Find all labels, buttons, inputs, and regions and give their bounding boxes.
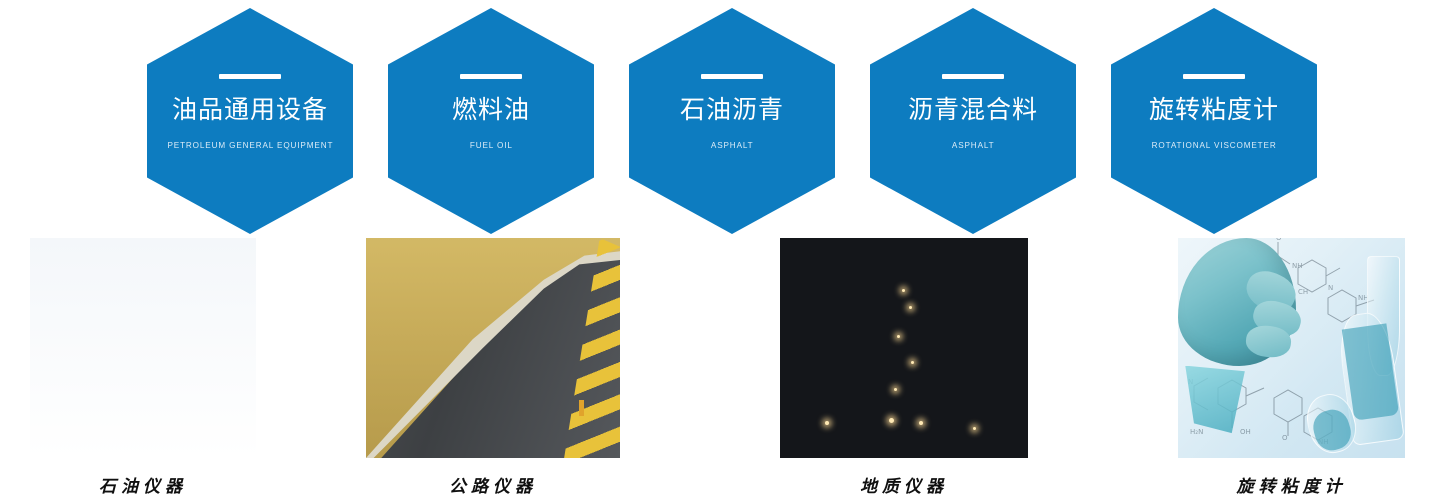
hexagon-subtitle-en: ASPHALT [711, 138, 754, 152]
page-root: 油品通用设备 PETROLEUM GENERAL EQUIPMENT 燃料油 F… [0, 0, 1440, 500]
category-hexagon-row: 油品通用设备 PETROLEUM GENERAL EQUIPMENT 燃料油 F… [0, 0, 1440, 236]
hexagon-divider-rule [219, 74, 281, 79]
hexagon-divider-rule [1183, 74, 1245, 79]
photo-rig-lights-layer [780, 238, 1028, 458]
hexagon-title-cn: 沥青混合料 [908, 95, 1038, 125]
hexagon-subtitle-en: PETROLEUM GENERAL EQUIPMENT [167, 138, 333, 152]
photo-caption: 旋转粘度计 [1178, 472, 1405, 497]
photo-beaker [1178, 366, 1251, 436]
photo-caption: 石油仪器 [30, 472, 256, 497]
hexagon-title-cn: 油品通用设备 [172, 95, 328, 125]
hexagon-card-petroleum-general-equipment[interactable]: 油品通用设备 PETROLEUM GENERAL EQUIPMENT [147, 8, 353, 234]
photo-card-rotational-viscometer[interactable]: HO O NH NH N CH N H₂N O NH OH [1178, 238, 1405, 497]
hexagon-card-asphalt[interactable]: 石油沥青 ASPHALT [629, 8, 835, 234]
photo-caption: 公路仪器 [366, 472, 620, 497]
hexagon-divider-rule [942, 74, 1004, 79]
hexagon-subtitle-en: ASPHALT [952, 138, 995, 152]
hexagon-subtitle-en: ROTATIONAL VISCOMETER [1151, 138, 1276, 152]
photo-petroleum-instruments [30, 238, 256, 458]
hexagon-title-cn: 燃料油 [452, 95, 530, 125]
photo-snow-foreground-layer [30, 238, 256, 458]
hexagon-title-cn: 石油沥青 [680, 95, 784, 125]
photo-gloved-hand-layer [1178, 238, 1405, 458]
photo-card-petroleum-instruments[interactable]: 石油仪器 [30, 238, 256, 497]
photo-road-marker [579, 400, 584, 416]
hexagon-card-fuel-oil[interactable]: 燃料油 FUEL OIL [388, 8, 594, 234]
photo-card-geological-instruments[interactable]: 地质仪器 [780, 238, 1028, 497]
photo-caption: 地质仪器 [780, 472, 1028, 497]
hexagon-title-cn: 旋转粘度计 [1149, 95, 1279, 125]
hexagon-card-asphalt-mixture[interactable]: 沥青混合料 ASPHALT [870, 8, 1076, 234]
hexagon-subtitle-en: FUEL OIL [470, 138, 513, 152]
hexagon-divider-rule [701, 74, 763, 79]
photo-geological-instruments [780, 238, 1028, 458]
photo-card-highway-instruments[interactable]: 公路仪器 [366, 238, 620, 497]
hexagon-divider-rule [460, 74, 522, 79]
photo-rotational-viscometer: HO O NH NH N CH N H₂N O NH OH [1178, 238, 1405, 458]
photo-highway-instruments [366, 238, 620, 458]
hexagon-card-rotational-viscometer[interactable]: 旋转粘度计 ROTATIONAL VISCOMETER [1111, 8, 1317, 234]
